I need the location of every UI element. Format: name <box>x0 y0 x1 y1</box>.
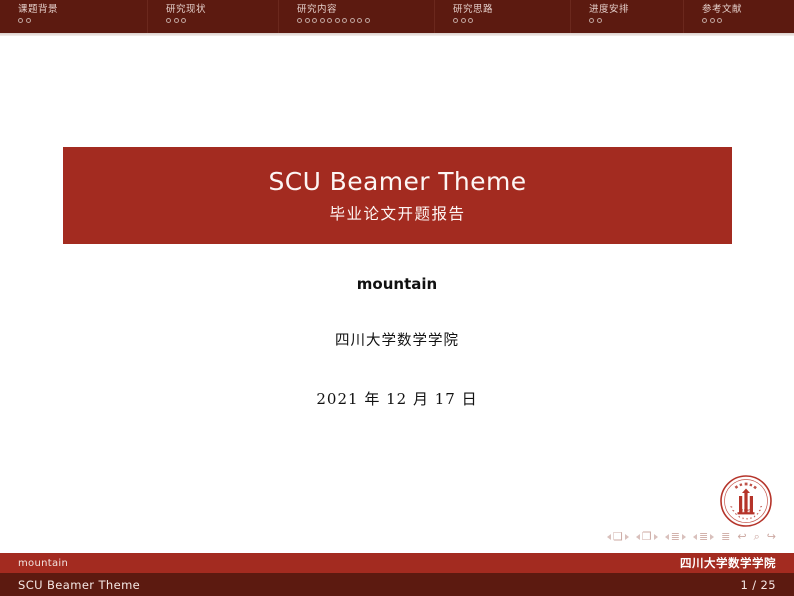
section-icon[interactable]: ≣ <box>699 531 708 542</box>
nav-slide-dot[interactable] <box>597 18 602 23</box>
seal-icon: 1896 <box>719 474 773 528</box>
nav-slide-dot[interactable] <box>181 18 186 23</box>
navbar-separator <box>0 33 794 36</box>
footer-author-bar: mountain 四川大学数学学院 <box>0 553 794 573</box>
nav-slide-dot[interactable] <box>320 18 325 23</box>
footer-title: SCU Beamer Theme <box>18 578 140 592</box>
next-subsection-icon[interactable] <box>682 534 686 540</box>
nav-slide-dot[interactable] <box>174 18 179 23</box>
footer-title-bar: SCU Beamer Theme 1 / 25 <box>0 573 794 596</box>
nav-slide-dot[interactable] <box>468 18 473 23</box>
nav-slide-dot[interactable] <box>26 18 31 23</box>
next-slide-icon[interactable] <box>625 534 629 540</box>
presentation-subtitle: 毕业论文开题报告 <box>329 202 465 224</box>
nav-section-slide-dots[interactable] <box>148 18 278 23</box>
nav-section-0[interactable]: 课题背景 <box>0 0 148 33</box>
nav-section-slide-dots[interactable] <box>0 18 147 23</box>
title-block: SCU Beamer Theme 毕业论文开题报告 <box>63 147 732 244</box>
nav-slide-dot[interactable] <box>297 18 302 23</box>
nav-section-label: 研究思路 <box>435 4 570 16</box>
nav-slide-dot[interactable] <box>357 18 362 23</box>
previous-section-icon[interactable] <box>693 534 697 540</box>
nav-slide-dot[interactable] <box>327 18 332 23</box>
nav-section-label: 进度安排 <box>571 4 683 16</box>
next-frame-icon[interactable] <box>654 534 658 540</box>
nav-section-label: 研究现状 <box>148 4 278 16</box>
nav-slide-dot[interactable] <box>365 18 370 23</box>
slide-navigation-group[interactable]: ❑ <box>607 531 629 542</box>
title-meta-block: mountain 四川大学数学学院 2021 年 12 月 17 日 <box>0 275 794 409</box>
section-navigation-group[interactable]: ≣ <box>693 531 714 542</box>
slide-icon[interactable]: ❑ <box>613 531 623 542</box>
section-navigation-bar: 课题背景 研究现状 研究内容 研究思路 <box>0 0 794 33</box>
nav-section-3[interactable]: 研究思路 <box>435 0 571 33</box>
sichuan-university-seal-logo: 1896 <box>719 474 773 528</box>
nav-slide-dot[interactable] <box>350 18 355 23</box>
presentation-date: 2021 年 12 月 17 日 <box>0 388 794 409</box>
previous-frame-icon[interactable] <box>636 534 640 540</box>
nav-slide-dot[interactable] <box>305 18 310 23</box>
previous-slide-icon[interactable] <box>607 534 611 540</box>
nav-slide-dot[interactable] <box>589 18 594 23</box>
nav-section-label: 课题背景 <box>0 4 147 16</box>
nav-section-slide-dots[interactable] <box>279 18 434 23</box>
subsection-icon[interactable]: ≣ <box>671 531 680 542</box>
nav-slide-dot[interactable] <box>453 18 458 23</box>
nav-section-4[interactable]: 进度安排 <box>571 0 684 33</box>
nav-slide-dot[interactable] <box>342 18 347 23</box>
nav-section-label: 研究内容 <box>279 4 434 16</box>
nav-slide-dot[interactable] <box>717 18 722 23</box>
previous-subsection-icon[interactable] <box>665 534 669 540</box>
next-section-icon[interactable] <box>710 534 714 540</box>
nav-section-2[interactable]: 研究内容 <box>279 0 435 33</box>
nav-section-1[interactable]: 研究现状 <box>148 0 279 33</box>
beamer-navigation-symbols[interactable]: ❑ ❐ ≣ ≣ ≣ ↩ ⌕ ↪ <box>607 531 776 542</box>
nav-slide-dot[interactable] <box>335 18 340 23</box>
nav-slide-dot[interactable] <box>166 18 171 23</box>
nav-section-slide-dots[interactable] <box>435 18 570 23</box>
nav-slide-dot[interactable] <box>461 18 466 23</box>
forward-icon[interactable]: ↪ <box>767 531 776 542</box>
back-icon[interactable]: ↩ <box>737 531 746 542</box>
presentation-title: SCU Beamer Theme <box>268 167 526 196</box>
nav-slide-dot[interactable] <box>702 18 707 23</box>
nav-section-slide-dots[interactable] <box>571 18 683 23</box>
author-name: mountain <box>0 275 794 293</box>
frame-icon[interactable]: ❐ <box>642 531 652 542</box>
footer-author: mountain <box>18 558 68 569</box>
nav-section-slide-dots[interactable] <box>684 18 794 23</box>
nav-section-5[interactable]: 参考文献 <box>684 0 794 33</box>
nav-section-label: 参考文献 <box>684 4 794 16</box>
footer-institute: 四川大学数学学院 <box>680 555 776 571</box>
nav-slide-dot[interactable] <box>18 18 23 23</box>
nav-slide-dot[interactable] <box>312 18 317 23</box>
seal-year: 1896 <box>742 508 751 512</box>
frame-navigation-group[interactable]: ❐ <box>636 531 658 542</box>
subsection-navigation-group[interactable]: ≣ <box>665 531 686 542</box>
search-icon[interactable]: ⌕ <box>754 531 760 542</box>
institute-name: 四川大学数学学院 <box>0 329 794 350</box>
nav-slide-dot[interactable] <box>710 18 715 23</box>
appendix-icon[interactable]: ≣ <box>721 531 730 542</box>
footer-page-number: 1 / 25 <box>740 578 776 592</box>
